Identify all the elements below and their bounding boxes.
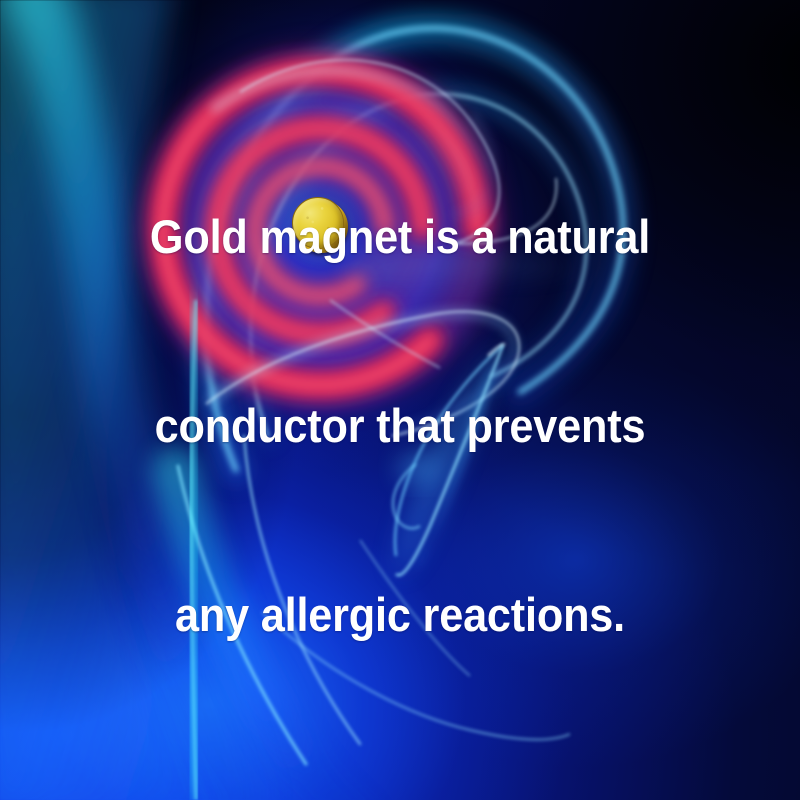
caption-block: Gold magnet is a natural conductor that … [32, 79, 768, 772]
image-canvas: Gold magnet is a natural conductor that … [0, 0, 800, 800]
caption-line-3: any allergic reactions. [32, 583, 768, 646]
caption-line-1: Gold magnet is a natural [32, 205, 768, 268]
caption-line-2: conductor that prevents [32, 394, 768, 457]
